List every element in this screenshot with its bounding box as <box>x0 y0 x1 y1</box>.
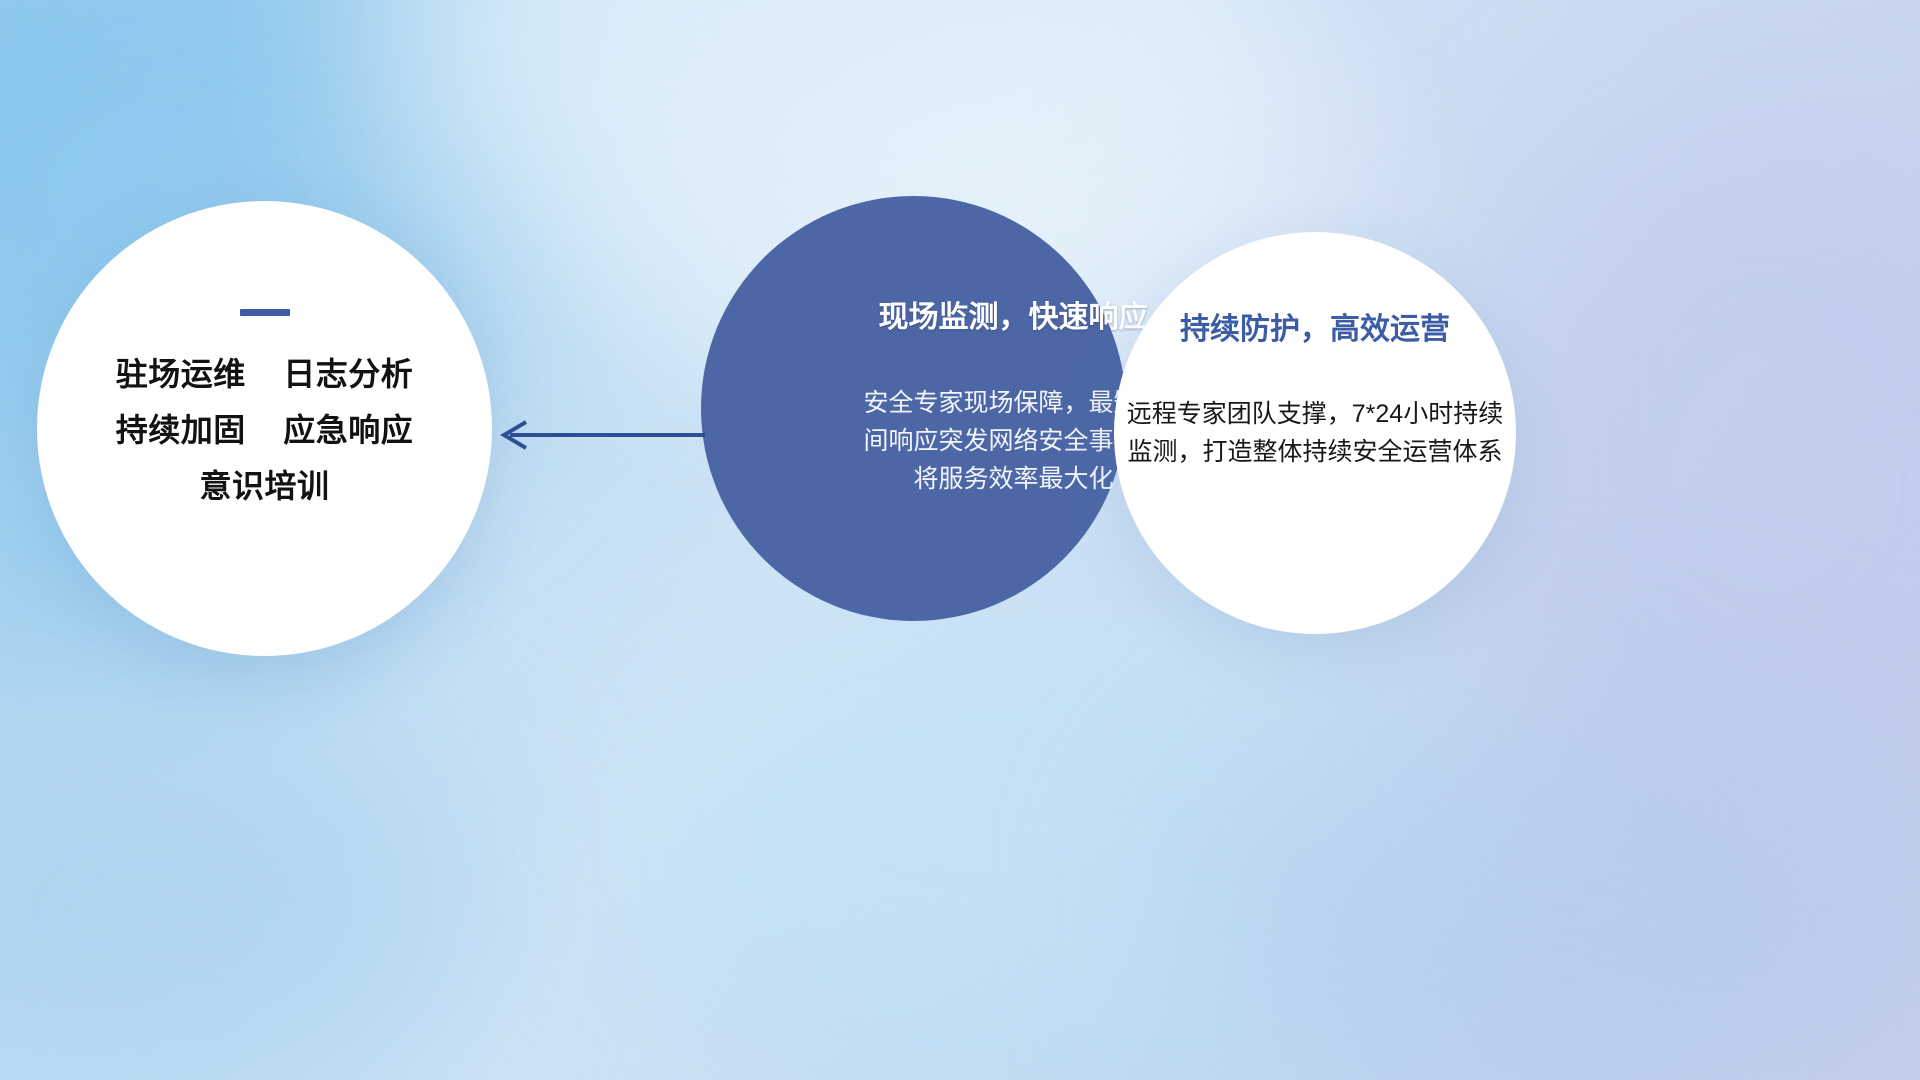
left-keywords-circle: 驻场运维 日志分析 持续加固 应急响应 意识培训 <box>37 201 492 656</box>
left-keyword-list: 驻场运维 日志分析 持续加固 应急响应 意识培训 <box>37 358 492 502</box>
list-item: 意识培训 <box>37 470 492 502</box>
left-circle-content: 驻场运维 日志分析 持续加固 应急响应 意识培训 <box>37 201 492 502</box>
onsite-monitoring-circle: 现场监测，快速响应 安全专家现场保障，最短时间响应突发网络安全事件，将服务效率最… <box>701 196 1126 621</box>
flow-arrow-left-icon <box>492 415 707 455</box>
list-item: 驻场运维 日志分析 <box>37 358 492 390</box>
list-item: 持续加固 应急响应 <box>37 414 492 446</box>
continuous-protection-body: 远程专家团队支撑，7*24小时持续监测，打造整体持续安全运营体系 <box>1120 396 1510 471</box>
onsite-monitoring-title: 现场监测，快速响应 <box>879 292 1149 336</box>
continuous-protection-circle: 持续防护，高效运营 远程专家团队支撑，7*24小时持续监测，打造整体持续安全运营… <box>1114 232 1516 634</box>
continuous-protection-title: 持续防护，高效运营 <box>1180 304 1450 348</box>
accent-dash-icon <box>240 309 290 316</box>
diagram-canvas: 驻场运维 日志分析 持续加固 应急响应 意识培训 现场监测，快速响应 安全专家现… <box>0 0 1920 1080</box>
